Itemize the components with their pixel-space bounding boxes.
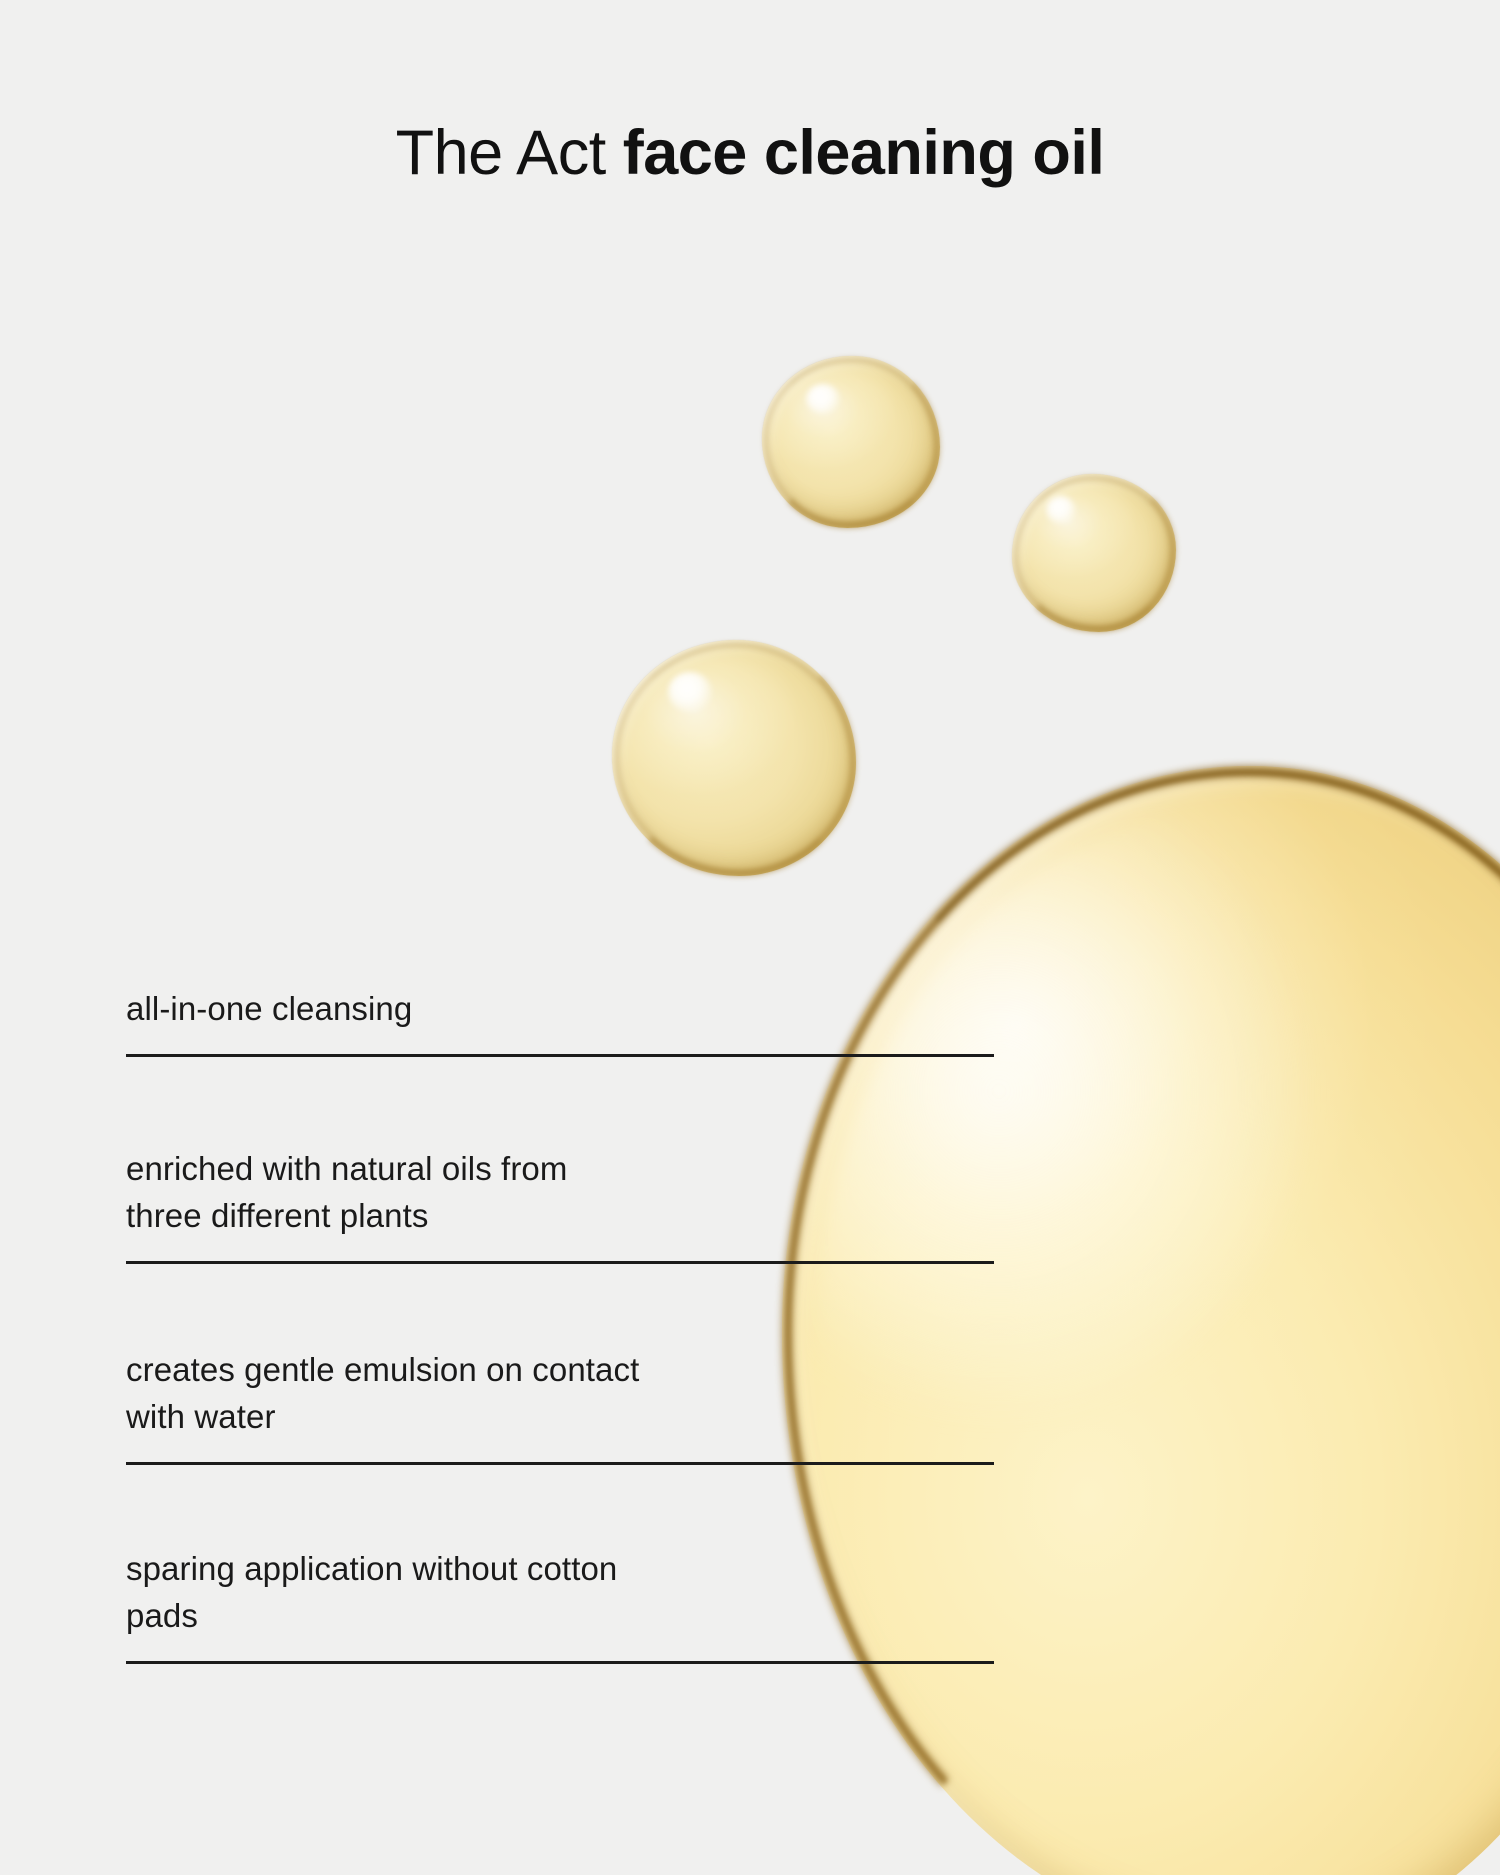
page-title-light: The Act bbox=[396, 118, 623, 188]
oil-droplet-medium bbox=[1012, 474, 1176, 632]
oil-droplet-small-highlight bbox=[806, 384, 840, 414]
oil-droplet-medium-highlight bbox=[1046, 496, 1076, 524]
feature-text: sparing application without cotton pads bbox=[126, 1545, 816, 1661]
feature-text: enriched with natural oils from three di… bbox=[126, 1145, 816, 1261]
oil-droplet-large-rim-top bbox=[615, 643, 853, 873]
feature-divider bbox=[126, 1261, 994, 1264]
feature-item: all-in-one cleansing bbox=[126, 985, 994, 1057]
product-feature-card: The Act face cleaning oil all-in-one cle… bbox=[0, 0, 1500, 1875]
oil-droplet-small bbox=[762, 356, 940, 528]
feature-divider bbox=[126, 1054, 994, 1057]
oil-droplet-small-rim bbox=[762, 356, 940, 528]
feature-divider bbox=[126, 1661, 994, 1664]
feature-text: creates gentle emulsion on contact with … bbox=[126, 1346, 816, 1462]
feature-divider bbox=[126, 1462, 994, 1465]
page-title: The Act face cleaning oil bbox=[0, 120, 1500, 186]
page-title-bold: face cleaning oil bbox=[623, 118, 1105, 188]
oil-droplet-medium-rim bbox=[1012, 474, 1176, 632]
oil-droplet-small-rim-top bbox=[764, 358, 938, 526]
feature-text: all-in-one cleansing bbox=[126, 985, 816, 1054]
feature-item: sparing application without cotton pads bbox=[126, 1545, 994, 1664]
oil-droplet-large-highlight bbox=[668, 672, 712, 712]
feature-item: enriched with natural oils from three di… bbox=[126, 1145, 994, 1264]
oil-droplet-medium-rim-top bbox=[1014, 476, 1174, 630]
oil-droplet-large bbox=[612, 640, 856, 876]
feature-item: creates gentle emulsion on contact with … bbox=[126, 1346, 994, 1465]
oil-droplet-large-rim bbox=[612, 640, 856, 876]
feature-list: all-in-one cleansing enriched with natur… bbox=[126, 985, 994, 1664]
